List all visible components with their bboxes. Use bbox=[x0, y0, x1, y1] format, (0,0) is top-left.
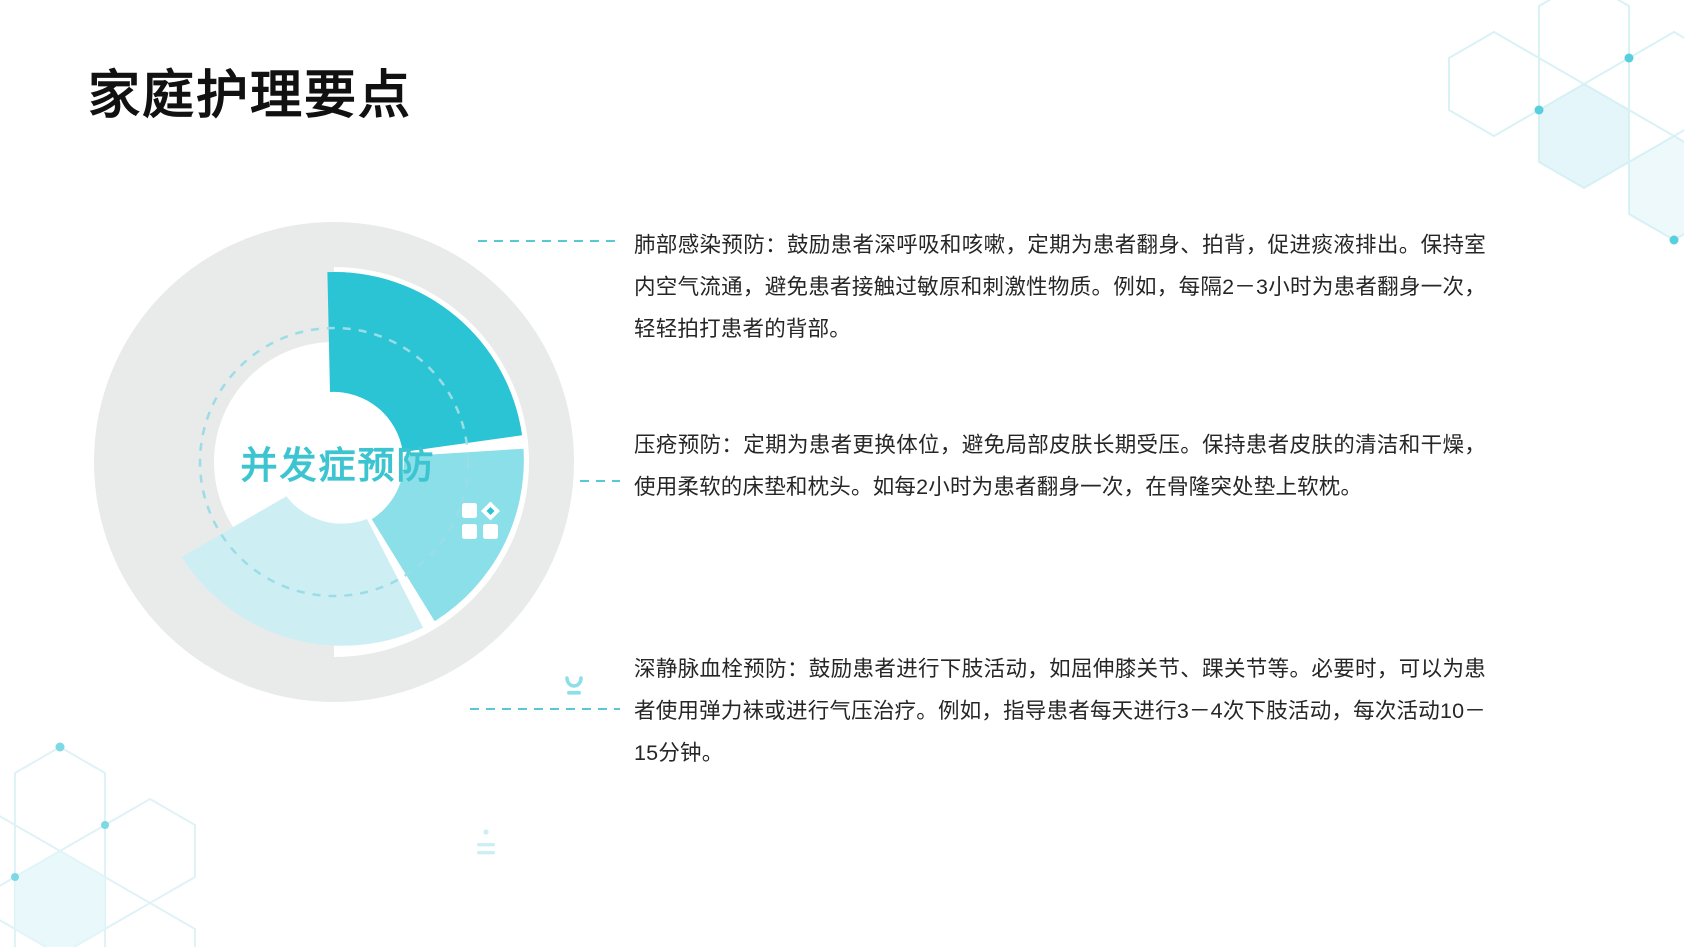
care-box-icon bbox=[552, 664, 596, 708]
complication-prevention-donut: 并发症预防 bbox=[84, 207, 584, 717]
clipboard-icon bbox=[464, 825, 508, 869]
slide-canvas: 家庭护理要点 bbox=[0, 0, 1684, 947]
care-point-text-2: 压疮预防：定期为患者更换体位，避免局部皮肤长期受压。保持患者皮肤的清洁和干燥，使… bbox=[634, 424, 1486, 508]
care-point-text-1: 肺部感染预防：鼓励患者深呼吸和咳嗽，定期为患者翻身、拍背，促进痰液排出。保持室内… bbox=[634, 224, 1486, 350]
care-point-text-3: 深静脉血栓预防：鼓励患者进行下肢活动，如屈伸膝关节、踝关节等。必要时，可以为患者… bbox=[634, 648, 1486, 774]
apps-grid-icon bbox=[458, 499, 502, 543]
